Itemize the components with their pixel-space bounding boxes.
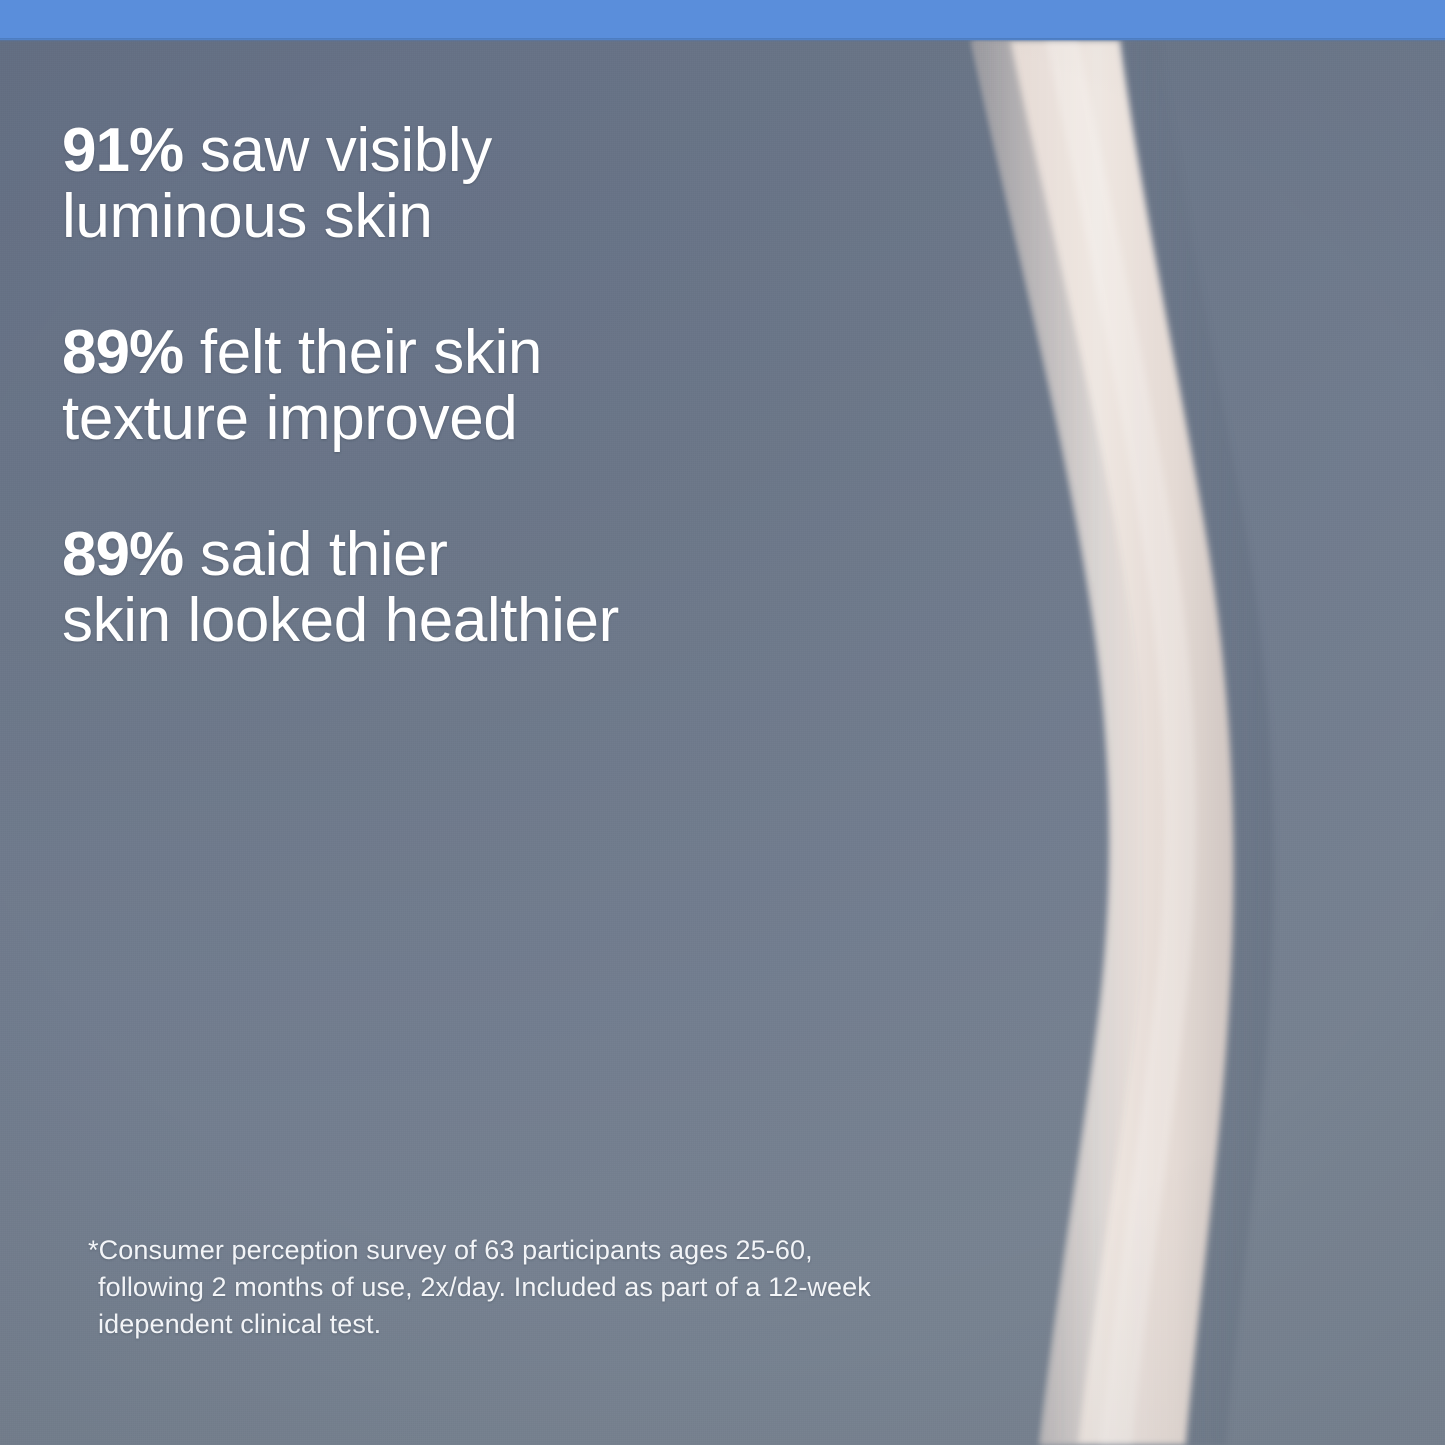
- claim-percent: 89%: [62, 520, 183, 589]
- claim-percent: 91%: [62, 116, 183, 185]
- claims-list: 91% saw visibly luminous skin 89% felt t…: [62, 118, 822, 654]
- claim-item: 89% felt their skin texture improved: [62, 320, 822, 452]
- claim-item: 91% saw visibly luminous skin: [62, 118, 822, 250]
- claim-percent: 89%: [62, 318, 183, 387]
- product-claims-graphic: 91% saw visibly luminous skin 89% felt t…: [0, 0, 1445, 1445]
- footnote-disclaimer: *Consumer perception survey of 63 partic…: [88, 1232, 908, 1343]
- claim-item: 89% said thier skin looked healthier: [62, 522, 822, 654]
- top-accent-bar: [0, 0, 1445, 40]
- footnote-text: *Consumer perception survey of 63 partic…: [88, 1232, 908, 1343]
- top-accent-bar-edge: [0, 38, 1445, 42]
